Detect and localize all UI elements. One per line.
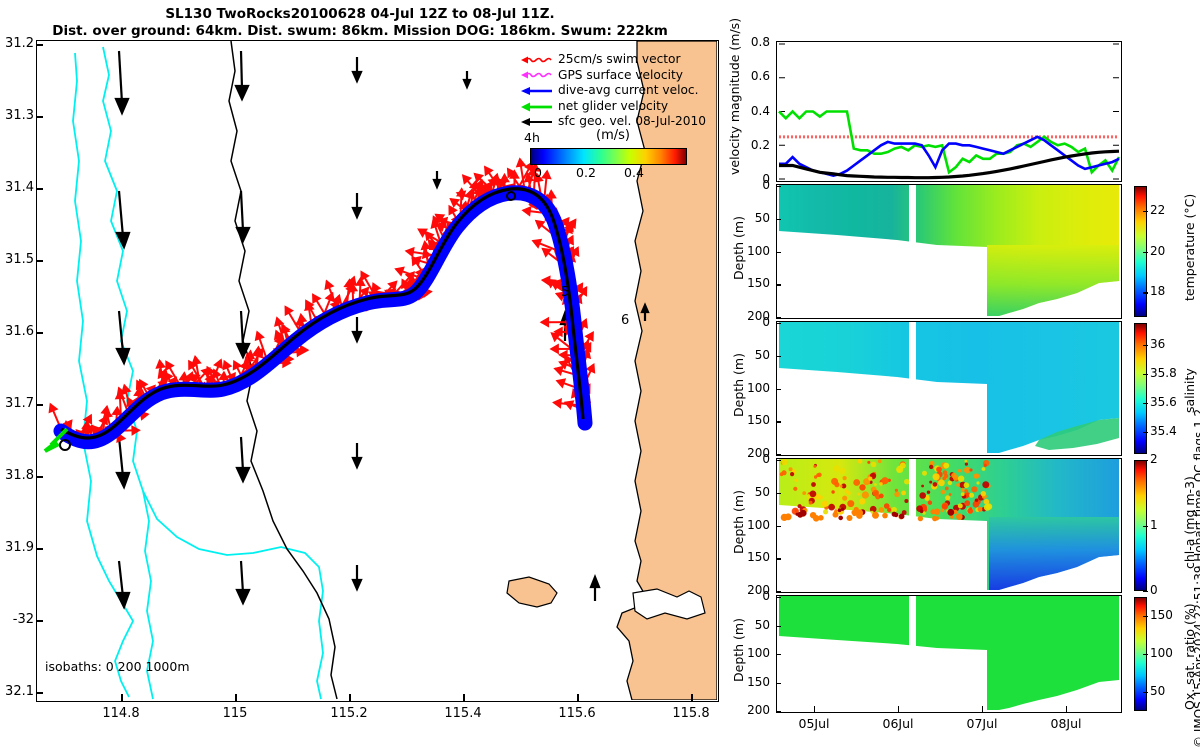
title-line-1: SL130 TwoRocks20100628 04-Jul 12Z to 08-… (0, 6, 720, 23)
oxygen-depth-tick-0: 0 (740, 589, 770, 603)
page-title: SL130 TwoRocks20100628 04-Jul 12Z to 08-… (0, 6, 720, 40)
chl-a-colorbar-tick-0: 0 (1150, 583, 1158, 597)
temperature-section-panel[interactable] (776, 184, 1122, 319)
oxygen-depth-tick-4: 200 (740, 703, 770, 717)
salinity-colorbar-tickmark-2 (1143, 374, 1148, 375)
legend-item-gps-surface-velocity: GPS surface velocity (520, 68, 720, 84)
map-xtick-2: 115.2 (319, 706, 379, 721)
temperature-data-gap (909, 185, 916, 245)
legend-label-4: sfc geo. vel. 08-Jul-2010 (558, 114, 706, 130)
chl-a-depth-tickmark-3 (776, 558, 781, 559)
salinity-colorbar-tickmark-1 (1143, 403, 1148, 404)
temperature-field-deep (987, 245, 1119, 316)
oxygen-colorbar-tick-1: 100 (1150, 646, 1173, 660)
map-ytick-mark-0 (36, 44, 43, 46)
map-colorbar (530, 148, 687, 165)
temperature-depth-tickmark-4 (776, 317, 781, 318)
oxygen-colorbar-tick-2: 150 (1150, 608, 1173, 622)
salinity-colorbar-tickmark-3 (1143, 345, 1148, 346)
chl-a-colorbar-tick-2: 2 (1150, 452, 1158, 466)
map-xtick-mark-4 (577, 694, 579, 701)
oxygen-colorbar-tickmark-1 (1143, 654, 1148, 655)
oxygen-section (777, 596, 1121, 712)
map-ytick-mark-1 (36, 116, 43, 118)
salinity-data-gap (909, 322, 916, 382)
map-ytick-mark-6 (36, 476, 43, 478)
time-tickmark-2 (982, 706, 983, 713)
legend-label-2: dive-avg current veloc. (558, 83, 699, 99)
time-tick-3: 08Jul (1036, 716, 1096, 731)
salinity-colorbar-tick-3: 36 (1150, 337, 1165, 351)
chl-a-depth-axis-label: Depth (m) (731, 490, 746, 554)
salinity-section (777, 322, 1121, 455)
salinity-depth-tickmark-1 (776, 356, 781, 357)
chl-a-colorbar-tickmark-2 (1143, 460, 1148, 461)
map-xtick-1: 115 (205, 706, 265, 721)
map-xtick-mark-2 (349, 694, 351, 701)
velocity-plot (777, 42, 1121, 181)
temperature-colorbar-tickmark-1 (1143, 252, 1148, 253)
isobath-note: isobaths: 0 200 1000m (45, 659, 190, 674)
map-ytick-0: 31.2 (0, 36, 34, 51)
oxygen-depth-tickmark-0 (776, 597, 781, 598)
legend-label-1: GPS surface velocity (558, 68, 683, 84)
time-tickmark-1 (898, 706, 899, 713)
map-ytick-2: 31.4 (0, 180, 34, 195)
map-xtick-4: 115.6 (547, 706, 607, 721)
time-tick-2: 07Jul (952, 716, 1012, 731)
salinity-depth-tickmark-3 (776, 421, 781, 422)
map-xtick-mark-1 (235, 694, 237, 701)
velocity-ytick-1: 0.2 (740, 138, 770, 152)
chl-a-depth-tickmark-4 (776, 591, 781, 592)
temperature-depth-tickmark-2 (776, 252, 781, 253)
sfc-geo-velocity-icon (520, 116, 554, 128)
map-xtick-mark-5 (691, 694, 693, 701)
chl-a-colorbar-tickmark-0 (1143, 591, 1148, 592)
map-ytick-mark-8 (36, 620, 43, 622)
oxygen-colorbar-tickmark-0 (1143, 692, 1148, 693)
chl-a-depth-tickmark-2 (776, 526, 781, 527)
map-ytick-mark-9 (36, 692, 43, 694)
temperature-depth-tickmark-1 (776, 219, 781, 220)
velocity-ytick-2: 0.4 (740, 104, 770, 118)
swim-vector-icon (520, 54, 554, 66)
temperature-depth-axis-label: Depth (m) (731, 216, 746, 280)
salinity-colorbar-tick-2: 35.8 (1150, 366, 1177, 380)
oxygen-depth-tickmark-3 (776, 683, 781, 684)
inlet-bay (633, 589, 705, 619)
title-line-2: Dist. over ground: 64km. Dist. swum: 86k… (0, 23, 720, 40)
oxygen-depth-axis-label: Depth (m) (731, 618, 746, 682)
oxygen-section-panel[interactable] (776, 595, 1122, 713)
salinity-colorbar (1134, 323, 1147, 454)
map-ytick-mark-2 (36, 188, 43, 190)
chla-deep-field (989, 517, 1119, 590)
temperature-colorbar-tickmark-2 (1143, 211, 1148, 212)
net-glider-velocity-icon (520, 101, 554, 113)
legend-item-swim-vector: 25cm/s swim vector (520, 52, 720, 68)
copyright-notice: © IMOS 15-Apr-2024 22:51:39 Hobart time.… (1192, 409, 1200, 748)
track-day-marker-5: 5 (561, 285, 569, 300)
chl-a-depth-tick-0: 0 (740, 452, 770, 466)
map-colorbar-tick-0: 0 (518, 165, 558, 180)
salinity-depth-tick-0: 0 (740, 315, 770, 329)
chl-a-depth-tickmark-0 (776, 460, 781, 461)
legend-item-dive-avg-current: dive-avg current veloc. (520, 83, 720, 99)
swim-vectors (49, 159, 594, 442)
time-tickmark-3 (1066, 706, 1067, 713)
map-ytick-3: 31.5 (0, 252, 34, 267)
salinity-colorbar-label: salinity (1182, 368, 1197, 413)
track-day-marker-6: 6 (621, 313, 629, 328)
chl-a-depth-tickmark-1 (776, 493, 781, 494)
map-ytick-1: 31.3 (0, 108, 34, 123)
chla-section (777, 459, 1121, 592)
map-ytick-mark-7 (36, 548, 43, 550)
map-ytick-4: 31.6 (0, 324, 34, 339)
map-colorbar-tick-2: 0.4 (614, 165, 654, 180)
gps-velocity-icon (520, 69, 554, 81)
temperature-colorbar-tick-1: 20 (1150, 244, 1165, 258)
legend-label-3: net glider velocity (558, 99, 668, 115)
oxygen-depth-tickmark-2 (776, 654, 781, 655)
legend-item-net-glider-velocity: net glider velocity (520, 99, 720, 115)
temperature-depth-tickmark-0 (776, 186, 781, 187)
temperature-colorbar-tick-2: 22 (1150, 203, 1165, 217)
dive-avg-current-icon (520, 85, 554, 97)
oxygen-depth-tickmark-4 (776, 711, 781, 712)
temperature-section (777, 185, 1121, 318)
island-rottnest (507, 577, 557, 607)
chl-a-colorbar-tick-1: 1 (1150, 518, 1158, 532)
salinity-depth-tickmark-2 (776, 389, 781, 390)
map-ytick-7: 31.9 (0, 540, 34, 555)
oxygen-depth-tickmark-1 (776, 626, 781, 627)
oxygen-colorbar-tickmark-2 (1143, 616, 1148, 617)
time-tick-0: 05Jul (784, 716, 844, 731)
temperature-colorbar-tickmark-0 (1143, 292, 1148, 293)
map-ytick-mark-3 (36, 260, 43, 262)
velocity-ytick-3: 0.6 (740, 69, 770, 83)
salinity-colorbar-tick-1: 35.6 (1150, 395, 1177, 409)
map-legend: 25cm/s swim vector GPS surface velocity … (520, 52, 720, 130)
series-net-glider-velocity (779, 112, 1119, 173)
map-xtick-5: 115.8 (661, 706, 721, 721)
map-xtick-0: 114.8 (91, 706, 151, 721)
temperature-colorbar-label: temperature (°C) (1182, 194, 1197, 301)
velocity-ytick-4: 0.8 (740, 35, 770, 49)
map-xtick-mark-0 (121, 694, 123, 701)
chla-data-gap (909, 459, 916, 519)
salinity-section-panel[interactable] (776, 321, 1122, 456)
map-ytick-9: 32.1 (0, 684, 34, 699)
chl-a-colorbar-tickmark-1 (1143, 526, 1148, 527)
map-ytick-mark-4 (36, 332, 43, 334)
time-tick-1: 06Jul (868, 716, 928, 731)
salinity-depth-tickmark-0 (776, 323, 781, 324)
chla-section-panel[interactable] (776, 458, 1122, 593)
map-xtick-mark-3 (463, 694, 465, 701)
map-ytick-6: 31.8 (0, 468, 34, 483)
oxygen-data-gap (909, 596, 916, 650)
map-ytick-mark-5 (36, 404, 43, 406)
salinity-colorbar-tick-0: 35.4 (1150, 424, 1177, 438)
temperature-depth-tickmark-3 (776, 284, 781, 285)
map-ytick-8: -32 (0, 612, 34, 627)
salinity-colorbar-tickmark-0 (1143, 432, 1148, 433)
salinity-depth-tickmark-4 (776, 454, 781, 455)
legend-scale-label: 4h (524, 130, 540, 145)
salinity-depth-axis-label: Depth (m) (731, 353, 746, 417)
legend-label-0: 25cm/s swim vector (558, 52, 681, 68)
temperature-colorbar-tick-0: 18 (1150, 284, 1165, 298)
map-xtick-3: 115.4 (433, 706, 493, 721)
map-ytick-5: 31.7 (0, 396, 34, 411)
oxygen-colorbar-tick-0: 50 (1150, 684, 1165, 698)
map-colorbar-tick-1: 0.2 (566, 165, 606, 180)
oxygen-field (779, 596, 1119, 710)
velocity-timeseries-panel[interactable] (776, 41, 1122, 182)
temperature-depth-tick-0: 0 (740, 178, 770, 192)
map-colorbar-units: (m/s) (596, 128, 630, 143)
time-tickmark-0 (814, 706, 815, 713)
